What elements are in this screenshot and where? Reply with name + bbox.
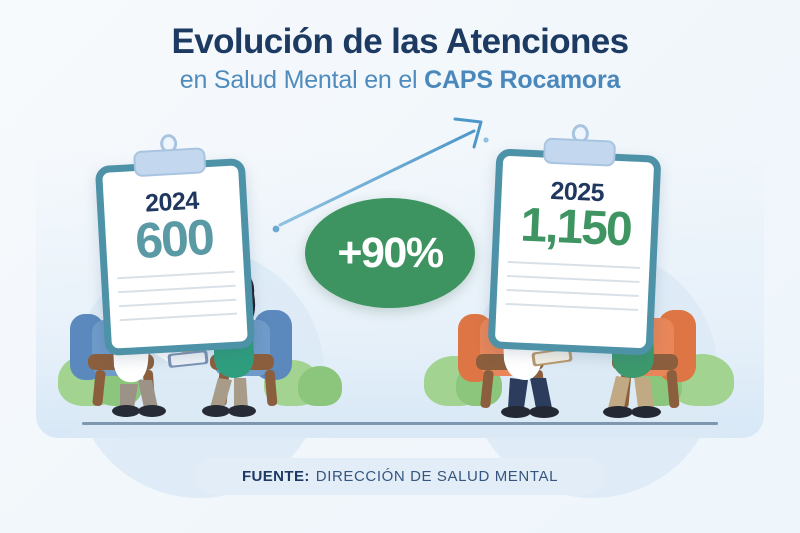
clipboard-ruled-lines <box>117 271 238 333</box>
infographic-canvas: Evolución de las Atenciones en Salud Men… <box>0 0 800 533</box>
stat-value-2025: 1,150 <box>492 196 659 258</box>
stat-value-2024: 600 <box>97 206 250 272</box>
clipboard-clip-icon <box>133 147 206 177</box>
title-main-line: Evolución de las Atenciones <box>0 22 800 61</box>
page-title: Evolución de las Atenciones en Salud Men… <box>0 22 800 95</box>
growth-badge-icon: +90% <box>305 198 475 308</box>
stat-card-2024: 2024 600 <box>95 158 255 356</box>
title-sub-accent: CAPS Rocamora <box>424 66 620 94</box>
tablet-device <box>167 350 208 368</box>
clipboard-clip-icon <box>542 137 615 166</box>
source-label: FUENTE: <box>242 468 310 485</box>
growth-badge-label: +90% <box>337 232 442 275</box>
source-footer: FUENTE: DIRECCIÓN DE SALUD MENTAL <box>196 458 604 495</box>
title-sub-line: en Salud Mental en el CAPS Rocamora <box>0 66 800 95</box>
source-value: DIRECCIÓN DE SALUD MENTAL <box>316 468 558 485</box>
title-sub-prefix: en Salud Mental en el <box>180 66 424 94</box>
stat-card-2025: 2025 1,150 <box>488 148 662 355</box>
clipboard-ruled-lines <box>505 261 640 323</box>
